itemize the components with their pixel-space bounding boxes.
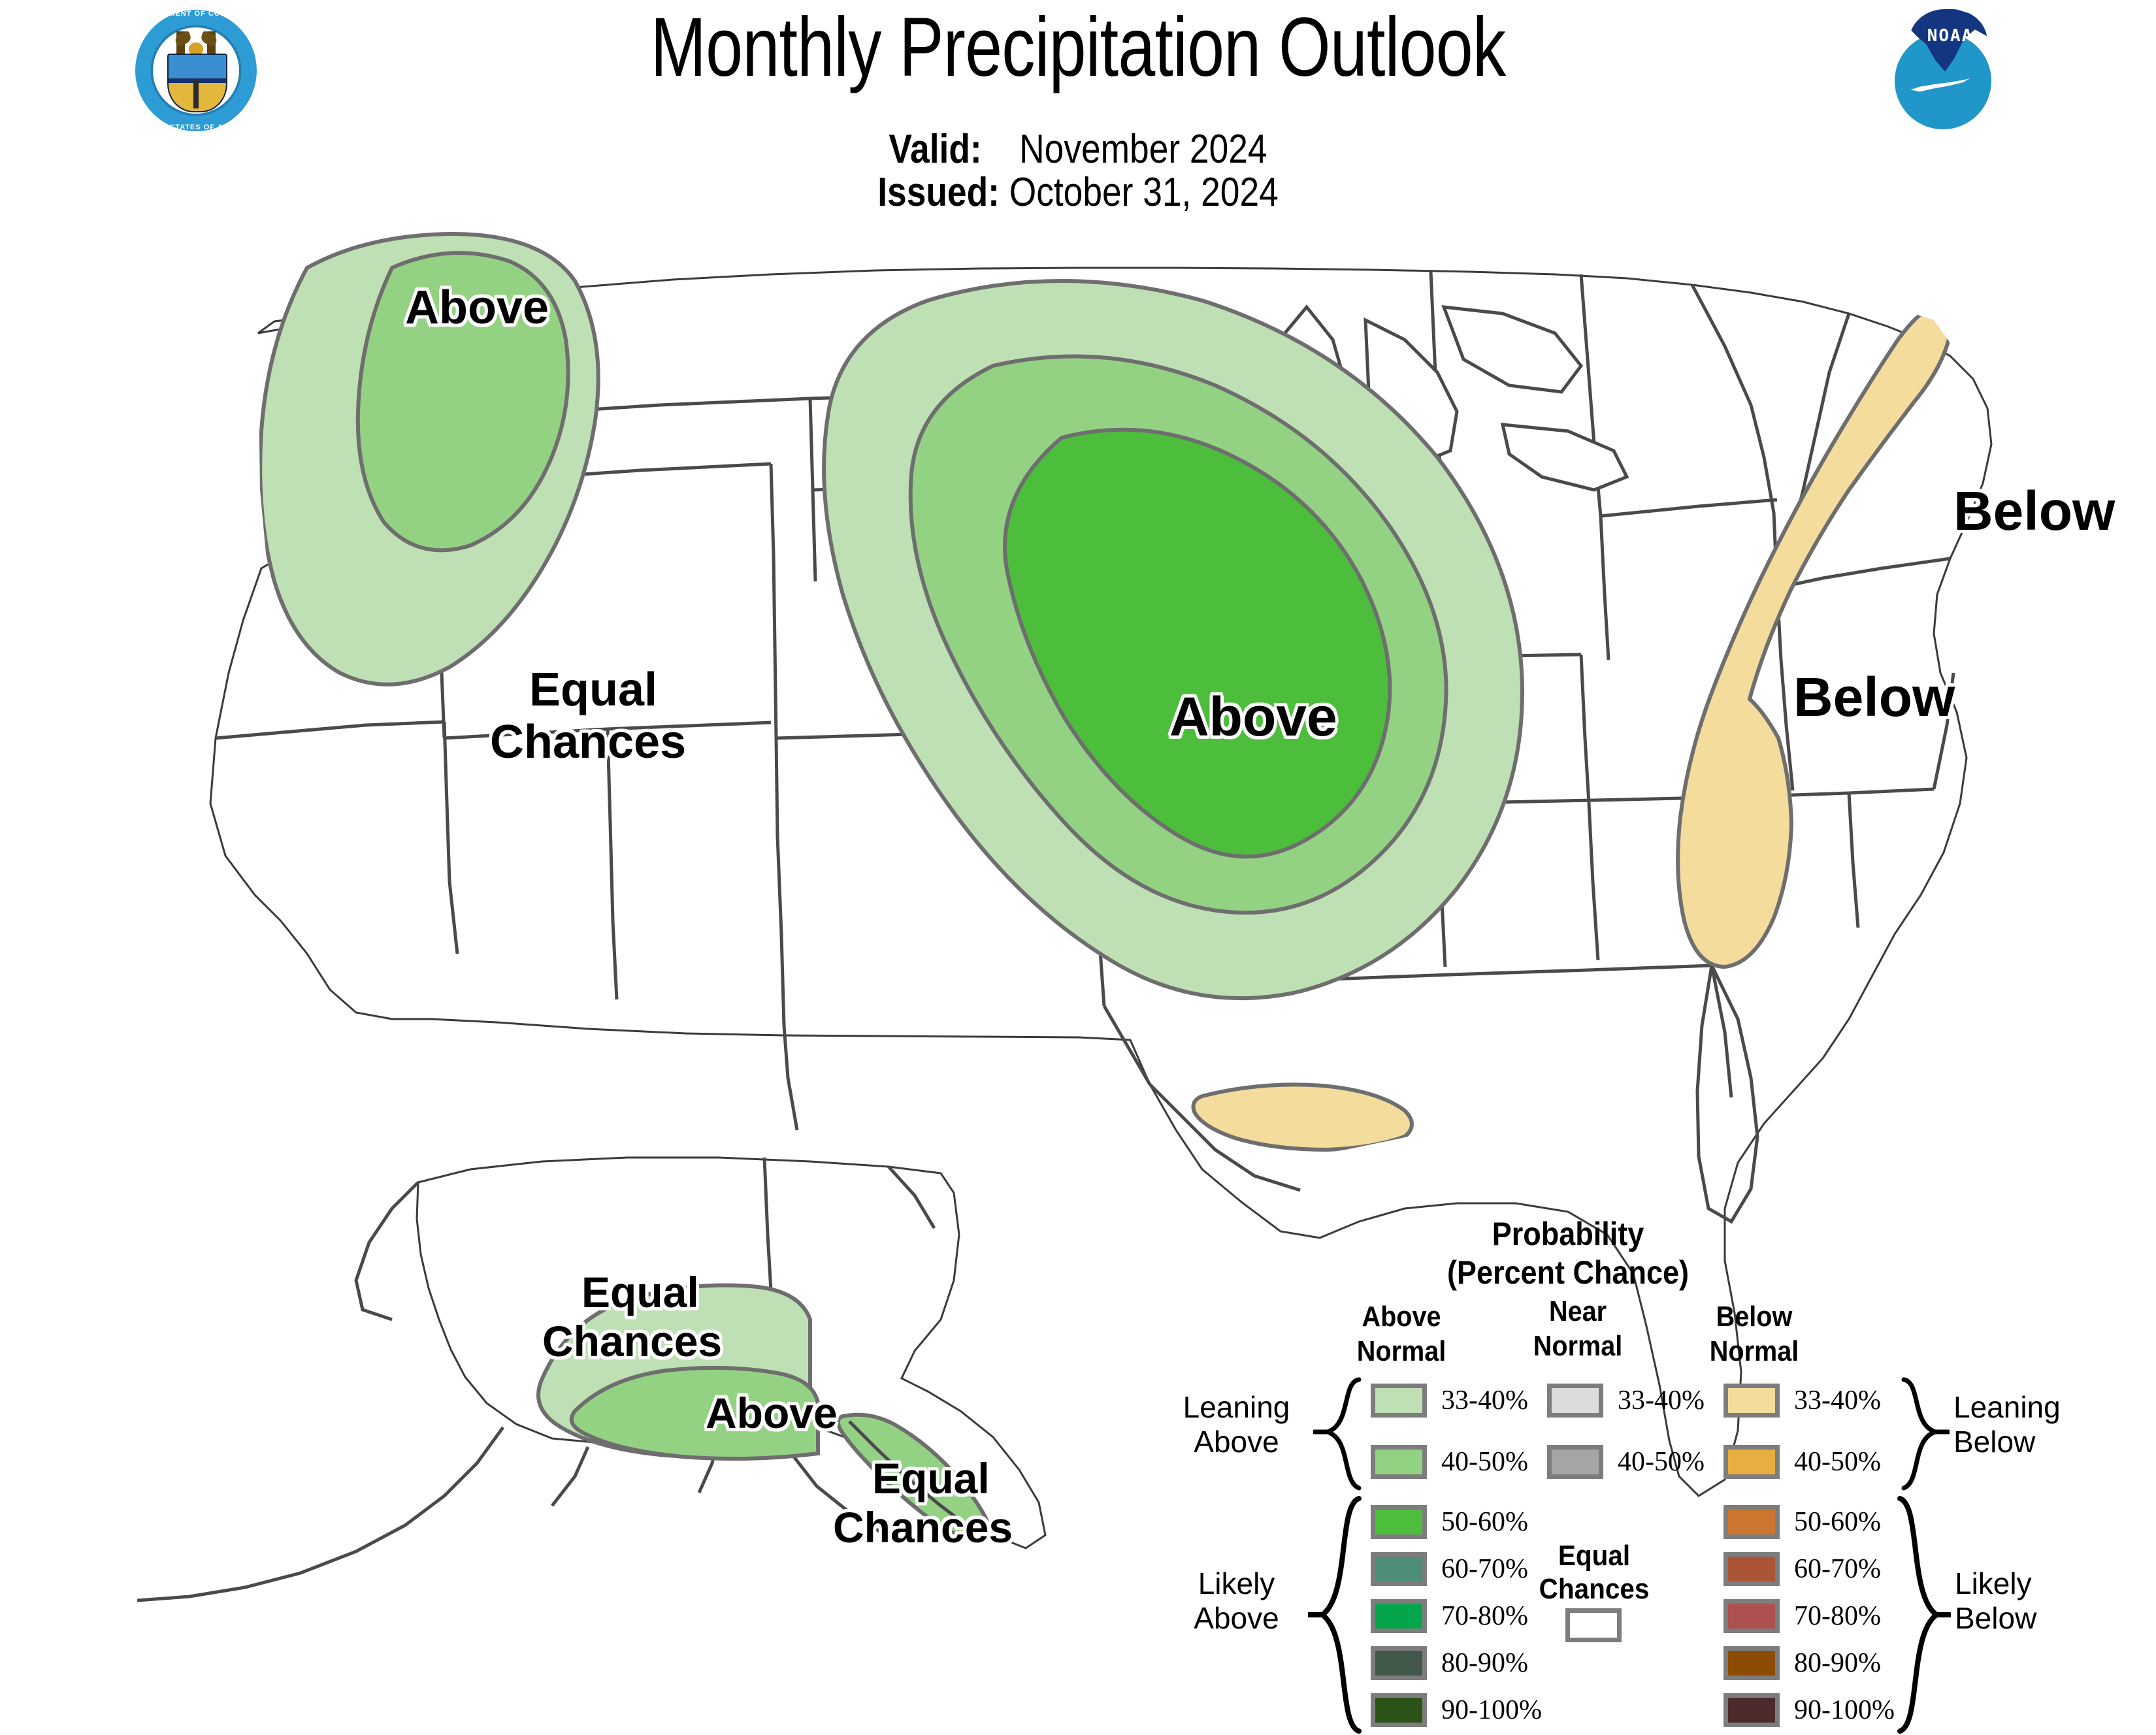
map-label-above-nw: Above (405, 284, 549, 331)
swatch-above-50-60[interactable] (1371, 1505, 1427, 1539)
swatch-below-80-90[interactable] (1723, 1646, 1780, 1680)
legend-title: Probability (Percent Chance) (1415, 1215, 1721, 1292)
col-below-line2: Normal (1681, 1335, 1828, 1369)
swatch-label-below-50-60: 50-60% (1794, 1505, 1881, 1539)
lean-above-line1: Leaning (1163, 1390, 1310, 1425)
swatch-label-above-90-100: 90-100% (1441, 1693, 1542, 1727)
brace-label-likely-below: Likely Below (1955, 1566, 2102, 1636)
col-above-line2: Normal (1328, 1335, 1475, 1369)
page-title: Monthly Precipitation Outlook (216, 5, 1940, 91)
col-below-line1: Below (1681, 1300, 1828, 1335)
map-label-equal-alaska: Equal (581, 1271, 699, 1314)
swatch-above-40-50[interactable] (1371, 1445, 1427, 1479)
swatch-label-below-60-70: 60-70% (1794, 1552, 1881, 1586)
swatch-label-below-33-40: 33-40% (1794, 1384, 1881, 1418)
swatch-below-40-50[interactable] (1723, 1445, 1780, 1479)
legend-column-header-below-normal: Below Normal (1681, 1300, 1828, 1369)
swatch-label-near-40-50: 40-50% (1618, 1445, 1705, 1479)
brace-label-leaning-above: Leaning Above (1163, 1390, 1310, 1460)
map-label-equal-sw: Equal (529, 666, 657, 713)
swatch-below-90-100[interactable] (1723, 1693, 1780, 1727)
swatch-label-above-60-70: 60-70% (1441, 1552, 1528, 1586)
map-label-above-alaska: Above (706, 1391, 838, 1435)
legend-column-header-above-normal: Above Normal (1328, 1300, 1475, 1369)
swatch-below-33-40[interactable] (1723, 1384, 1780, 1418)
swatch-below-50-60[interactable] (1723, 1505, 1780, 1539)
swatch-above-90-100[interactable] (1371, 1693, 1427, 1727)
swatch-equal-chances[interactable] (1565, 1608, 1622, 1642)
swatch-near-40-50[interactable] (1547, 1445, 1603, 1479)
swatch-label-above-80-90: 80-90% (1441, 1646, 1528, 1680)
map-label-chances-sw: Chances (490, 719, 686, 766)
legend-title-line1: Probability (1415, 1215, 1721, 1254)
swatch-label-above-70-80: 70-80% (1441, 1599, 1528, 1633)
swatch-label-above-50-60: 50-60% (1441, 1505, 1528, 1539)
swatch-label-below-90-100: 90-100% (1794, 1693, 1895, 1727)
brace-likely-below (1895, 1495, 1951, 1735)
swatch-label-below-70-80: 70-80% (1794, 1599, 1881, 1633)
col-near-line2: Normal (1505, 1329, 1652, 1364)
map-label-chances-alaska: Chances (542, 1320, 722, 1363)
swatch-above-70-80[interactable] (1371, 1599, 1427, 1633)
map-label-below-northeast: Below (1953, 483, 2115, 538)
likely-above-line1: Likely (1163, 1566, 1310, 1601)
brace-likely-above (1308, 1495, 1364, 1735)
lean-above-line2: Above (1163, 1425, 1310, 1459)
legend-column-header-near-normal: Near Normal (1505, 1295, 1652, 1364)
lean-below-line2: Below (1953, 1425, 2100, 1459)
lean-below-line1: Leaning (1953, 1390, 2100, 1425)
map-label-below-midatlantic: Below (1793, 670, 1955, 724)
col-above-line1: Above (1328, 1300, 1475, 1335)
swatch-below-60-70[interactable] (1723, 1552, 1780, 1586)
eq-line1: Equal (1522, 1539, 1667, 1572)
likely-above-line2: Above (1163, 1601, 1310, 1636)
swatch-near-33-40[interactable] (1547, 1384, 1603, 1418)
brace-label-likely-above: Likely Above (1163, 1566, 1310, 1636)
swatch-above-80-90[interactable] (1371, 1646, 1427, 1680)
swatch-label-above-33-40: 33-40% (1441, 1384, 1528, 1418)
swatch-label-near-33-40: 33-40% (1618, 1384, 1705, 1418)
map-label-above-midwest: Above (1169, 689, 1337, 744)
brace-label-leaning-below: Leaning Below (1953, 1390, 2100, 1460)
brace-leaning-above (1313, 1376, 1364, 1492)
swatch-label-above-40-50: 40-50% (1441, 1445, 1528, 1479)
legend-title-line2: (Percent Chance) (1415, 1254, 1721, 1292)
likely-below-line1: Likely (1955, 1566, 2102, 1601)
swatch-above-33-40[interactable] (1371, 1384, 1427, 1418)
swatch-above-60-70[interactable] (1371, 1552, 1427, 1586)
likely-below-line2: Below (1955, 1601, 2102, 1636)
legend-equal-chances-label: Equal Chances (1522, 1539, 1667, 1606)
brace-leaning-below (1899, 1376, 1950, 1492)
swatch-below-70-80[interactable] (1723, 1599, 1780, 1633)
map-label-chances-panhandle: Chances (833, 1506, 1013, 1549)
map-label-equal-panhandle: Equal (872, 1457, 990, 1500)
col-near-line1: Near (1505, 1295, 1652, 1329)
swatch-label-below-80-90: 80-90% (1794, 1646, 1881, 1680)
legend: Probability (Percent Chance) Above Norma… (1124, 1215, 2051, 1659)
swatch-label-below-40-50: 40-50% (1794, 1445, 1881, 1479)
eq-line2: Chances (1522, 1572, 1667, 1606)
